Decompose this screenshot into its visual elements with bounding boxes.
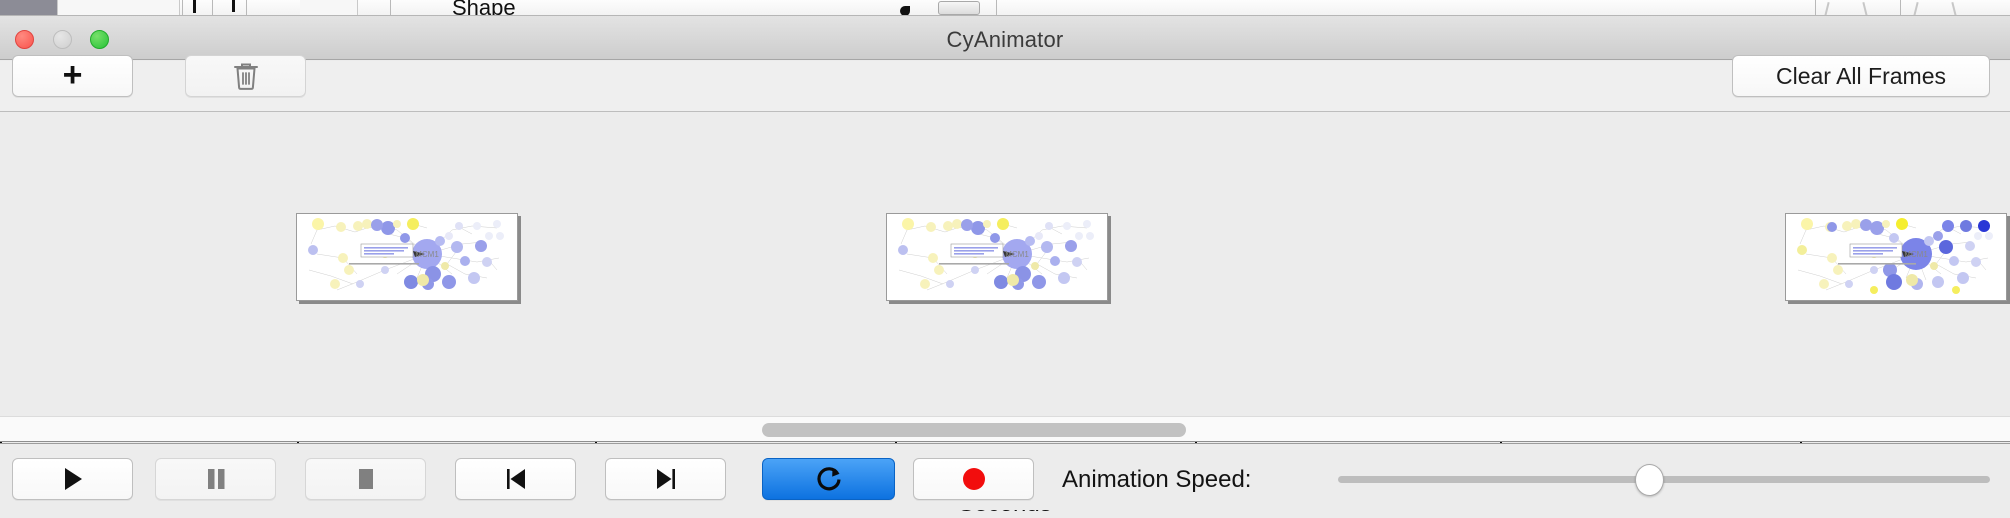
pause-icon [203, 465, 229, 493]
skip-previous-button[interactable] [455, 458, 576, 500]
network-thumbnail-image: MCM1 [1786, 214, 2006, 300]
pause-button[interactable] [155, 458, 276, 500]
stop-icon [353, 465, 379, 493]
skip-previous-icon [502, 465, 530, 493]
svg-text:MCM1: MCM1 [415, 250, 439, 259]
window-title: CyAnimator [0, 27, 2010, 53]
clear-all-frames-label: Clear All Frames [1776, 63, 1946, 90]
frame-thumbnail[interactable]: MCM1 [886, 213, 1108, 301]
skip-next-button[interactable] [605, 458, 726, 500]
record-button[interactable] [913, 458, 1034, 500]
svg-text:MCM1: MCM1 [1005, 250, 1029, 259]
network-thumbnail-image: MCM1 [297, 214, 517, 300]
plus-icon: + [63, 58, 83, 92]
add-frame-button[interactable]: + [12, 55, 133, 97]
stop-button[interactable] [305, 458, 426, 500]
scrollbar-thumb[interactable] [762, 423, 1186, 437]
clear-all-frames-button[interactable]: Clear All Frames [1732, 55, 1990, 97]
trash-icon [233, 61, 259, 91]
skip-next-icon [652, 465, 680, 493]
bg-tab-selected [0, 0, 58, 16]
animation-speed-slider[interactable] [1338, 458, 1990, 500]
loop-icon [814, 464, 844, 494]
bg-tab [58, 0, 180, 16]
svg-text:MCM1: MCM1 [1904, 250, 1928, 259]
title-bar[interactable]: CyAnimator [0, 16, 2010, 60]
frame-thumbnail[interactable]: MCM1 [1785, 213, 2007, 301]
delete-frame-button[interactable] [185, 55, 306, 97]
network-thumbnail-image: MCM1 [887, 214, 1107, 300]
bg-window-label: Shape [452, 0, 516, 16]
slider-track[interactable] [1338, 476, 1990, 483]
loop-button[interactable] [762, 458, 895, 500]
record-icon [960, 465, 988, 493]
animation-speed-label: Animation Speed: [1062, 466, 1251, 494]
background-window: Shape [0, 0, 2010, 16]
timeline-horizontal-scrollbar[interactable] [0, 416, 2010, 442]
play-icon [60, 465, 86, 493]
play-button[interactable] [12, 458, 133, 500]
timeline-panel[interactable]: MCM1 [0, 112, 2010, 412]
frame-thumbnail[interactable]: MCM1 [296, 213, 518, 301]
slider-thumb[interactable] [1635, 464, 1664, 496]
